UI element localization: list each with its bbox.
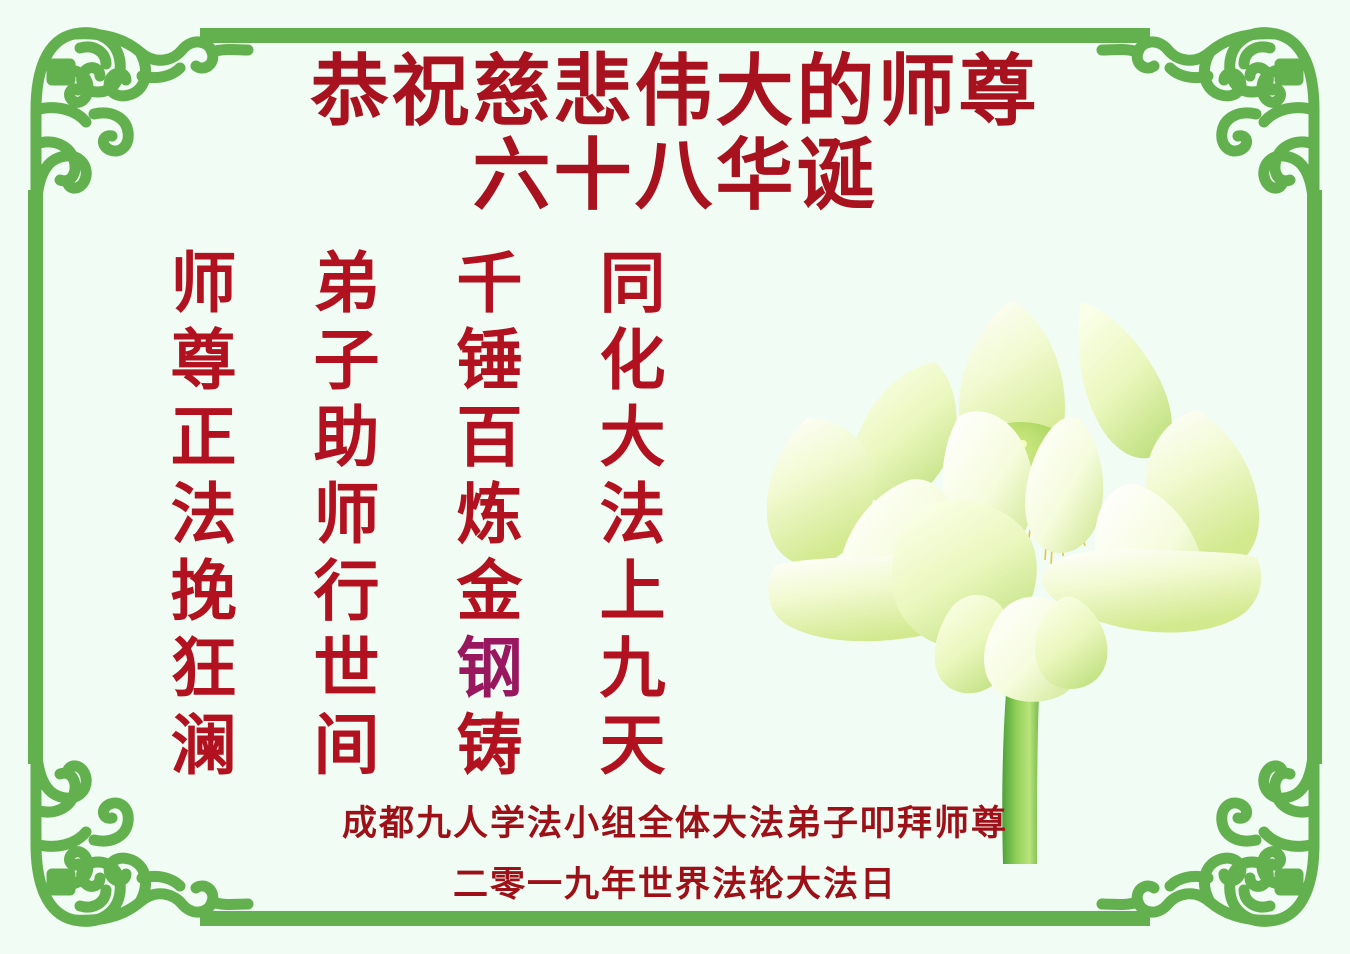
poem-char: 狂 bbox=[132, 631, 275, 708]
poem-grid: 师 尊 正 法 挽 狂 澜 弟 子 助 师 行 世 间 千 锤 百 炼 金 钢 … bbox=[132, 246, 704, 785]
frame-line-bottom bbox=[200, 911, 1150, 926]
poem-char: 师 bbox=[275, 477, 418, 554]
signature-line-2: 二零一九年世界法轮大法日 bbox=[0, 861, 1350, 908]
page-title: 恭祝慈悲伟大的师尊 六十八华诞 bbox=[0, 50, 1350, 218]
poem-column-2: 弟 子 助 师 行 世 间 bbox=[275, 246, 418, 785]
poem-char: 炼 bbox=[418, 477, 561, 554]
poem-column-3: 千 锤 百 炼 金 钢 铸 bbox=[418, 246, 561, 785]
poem-char: 挽 bbox=[132, 554, 275, 631]
poem-char: 弟 bbox=[275, 246, 418, 323]
poem-column-4: 同 化 大 法 上 九 天 bbox=[561, 246, 704, 785]
greeting-card: 恭祝慈悲伟大的师尊 六十八华诞 师 尊 正 法 挽 狂 澜 弟 子 助 师 行 … bbox=[0, 0, 1350, 954]
title-line-1: 恭祝慈悲伟大的师尊 bbox=[0, 50, 1350, 134]
poem-char-accent: 钢 bbox=[418, 631, 561, 708]
poem-char: 铸 bbox=[418, 708, 561, 785]
poem-char: 金 bbox=[418, 554, 561, 631]
poem-char: 行 bbox=[275, 554, 418, 631]
poem-char: 千 bbox=[418, 246, 561, 323]
poem-char: 助 bbox=[275, 400, 418, 477]
poem-char: 天 bbox=[561, 708, 704, 785]
poem-char: 澜 bbox=[132, 708, 275, 785]
poem-char: 正 bbox=[132, 400, 275, 477]
frame-line-left bbox=[28, 190, 43, 764]
poem-char: 九 bbox=[561, 631, 704, 708]
signature-block: 成都九人学法小组全体大法弟子叩拜师尊 二零一九年世界法轮大法日 bbox=[0, 800, 1350, 908]
poem-char: 世 bbox=[275, 631, 418, 708]
title-line-2: 六十八华诞 bbox=[0, 134, 1350, 218]
poem-char: 尊 bbox=[132, 323, 275, 400]
poem-char: 间 bbox=[275, 708, 418, 785]
frame-line-top bbox=[200, 28, 1150, 43]
poem-column-1: 师 尊 正 法 挽 狂 澜 bbox=[132, 246, 275, 785]
poem-char: 上 bbox=[561, 554, 704, 631]
poem-char: 师 bbox=[132, 246, 275, 323]
poem-char: 同 bbox=[561, 246, 704, 323]
poem-char: 大 bbox=[561, 400, 704, 477]
poem-char: 化 bbox=[561, 323, 704, 400]
poem-char: 子 bbox=[275, 323, 418, 400]
frame-line-right bbox=[1307, 190, 1322, 764]
poem-char: 法 bbox=[132, 477, 275, 554]
poem-char: 百 bbox=[418, 400, 561, 477]
poem-char: 法 bbox=[561, 477, 704, 554]
poem-char: 锤 bbox=[418, 323, 561, 400]
signature-line-1: 成都九人学法小组全体大法弟子叩拜师尊 bbox=[0, 800, 1350, 847]
